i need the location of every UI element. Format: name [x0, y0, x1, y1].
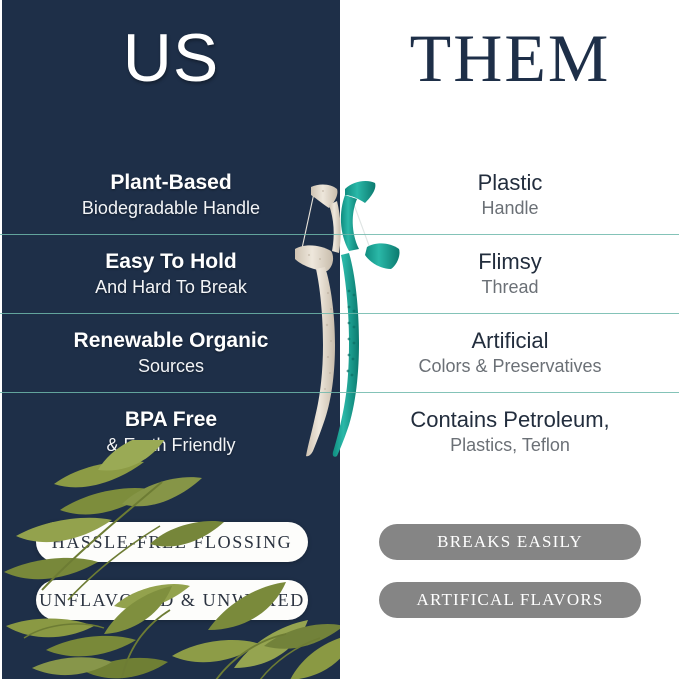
- us-row-2-main: Renewable Organic: [74, 327, 269, 354]
- row-divider-0: [0, 234, 679, 235]
- us-badge-0: HASSLE-FREE FLOSSING: [36, 522, 308, 562]
- them-row-2-sub: Colors & Preservatives: [418, 354, 601, 378]
- us-row-0: Plant-Based Biodegradable Handle: [2, 155, 340, 234]
- us-panel: US Plant-Based Biodegradable Handle Easy…: [2, 0, 340, 679]
- us-row-3-sub: & Earth Friendly: [106, 433, 235, 457]
- us-row-3: BPA Free & Earth Friendly: [2, 392, 340, 471]
- us-row-1-main: Easy To Hold: [105, 248, 236, 275]
- them-row-1: Flimsy Thread: [341, 234, 679, 313]
- us-row-1-sub: And Hard To Break: [95, 275, 247, 299]
- them-row-0-main: Plastic: [478, 169, 543, 196]
- them-row-2: Artificial Colors & Preservatives: [341, 313, 679, 392]
- them-panel: THEM Plastic Handle Flimsy Thread Artifi…: [341, 0, 679, 679]
- them-row-0-sub: Handle: [481, 196, 538, 220]
- us-row-0-main: Plant-Based: [110, 169, 231, 196]
- them-badge-0: BREAKS EASILY: [379, 524, 641, 560]
- row-divider-2: [0, 392, 679, 393]
- us-row-0-sub: Biodegradable Handle: [82, 196, 260, 220]
- us-row-1: Easy To Hold And Hard To Break: [2, 234, 340, 313]
- us-column-header: US: [2, 18, 340, 98]
- them-row-3: Contains Petroleum, Plastics, Teflon: [341, 392, 679, 471]
- us-row-3-main: BPA Free: [125, 406, 217, 433]
- us-row-2: Renewable Organic Sources: [2, 313, 340, 392]
- comparison-infographic: US Plant-Based Biodegradable Handle Easy…: [0, 0, 679, 679]
- us-row-2-sub: Sources: [138, 354, 204, 378]
- them-row-3-sub: Plastics, Teflon: [450, 433, 570, 457]
- them-column-header: THEM: [341, 18, 679, 98]
- them-badge-1: ARTIFICAL FLAVORS: [379, 582, 641, 618]
- them-row-2-main: Artificial: [471, 327, 548, 354]
- them-row-3-main: Contains Petroleum,: [410, 406, 609, 433]
- us-badge-1: UNFLAVORED & UNWAXED: [36, 580, 308, 620]
- them-row-1-sub: Thread: [481, 275, 538, 299]
- them-row-1-main: Flimsy: [478, 248, 542, 275]
- them-row-0: Plastic Handle: [341, 155, 679, 234]
- row-divider-1: [0, 313, 679, 314]
